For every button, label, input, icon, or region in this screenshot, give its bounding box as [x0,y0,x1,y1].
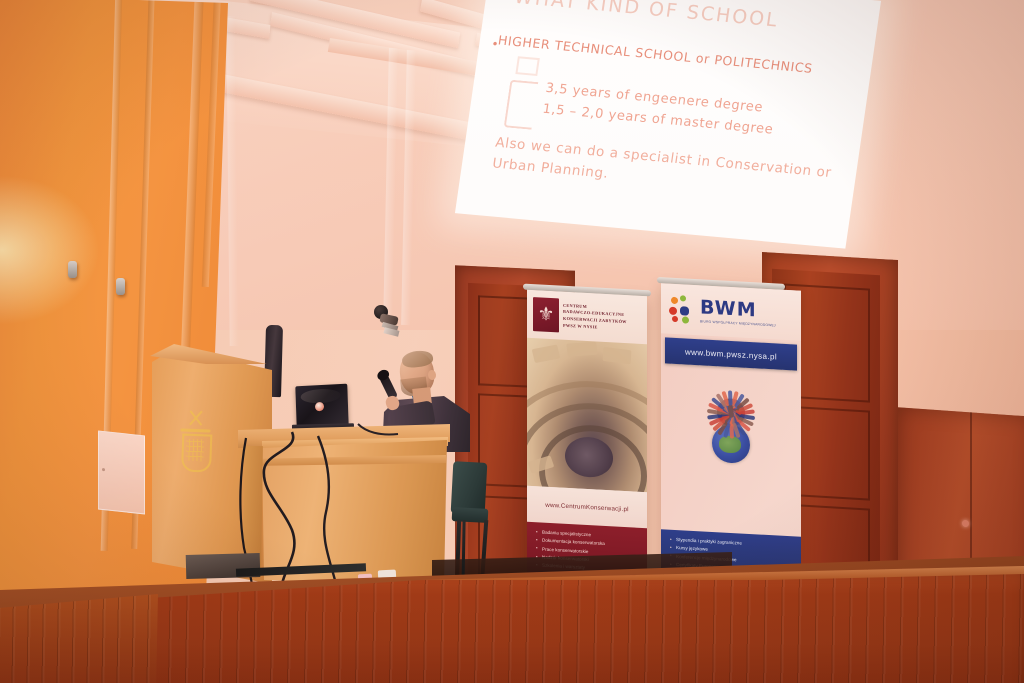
cable-path [318,436,336,584]
cable-path [264,432,295,584]
photograph-scene: WHAT KIND OF SCHOOL • HIGHER TECHNICAL S… [0,0,1024,683]
cable-path [358,424,398,435]
stage-step-paneling [0,594,158,683]
